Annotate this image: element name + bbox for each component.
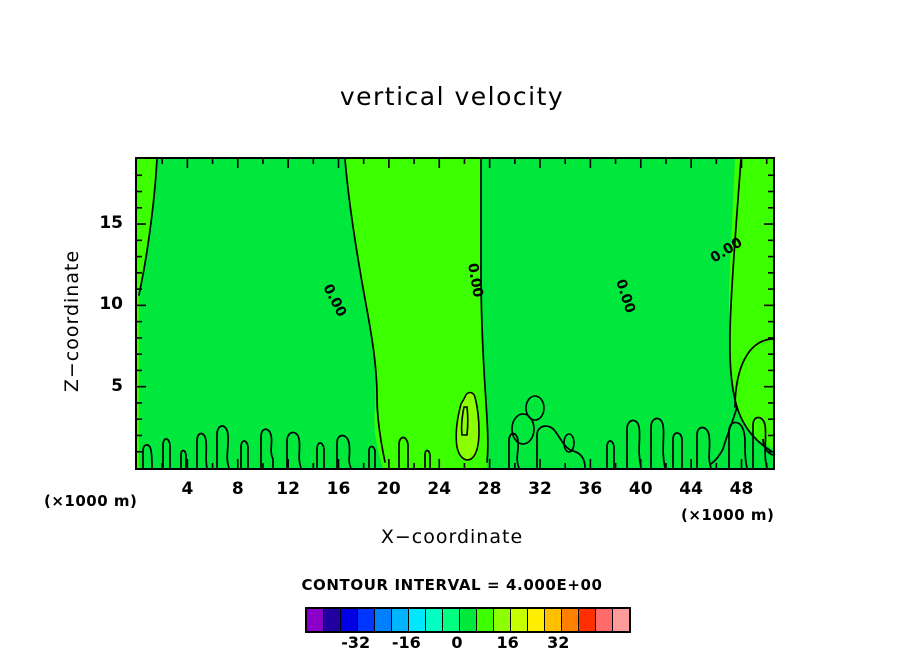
x-tick-label: 8 (218, 479, 258, 499)
colorbar-swatch (528, 609, 545, 631)
colorbar-swatch (596, 609, 613, 631)
x-tick-label: 44 (671, 479, 711, 499)
colorbar[interactable] (305, 607, 631, 633)
x-axis-unit-right: (×1000 m) (681, 506, 774, 524)
colorbar-swatch (545, 609, 562, 631)
colorbar-swatch (392, 609, 409, 631)
colorbar-tick-label: 32 (536, 633, 580, 652)
axis-ticks (137, 159, 773, 468)
colorbar-tick-label: 16 (486, 633, 530, 652)
x-tick-label: 24 (419, 479, 459, 499)
x-tick-label: 4 (167, 479, 207, 499)
colorbar-swatch (341, 609, 358, 631)
colorbar-tick-label: -32 (334, 633, 378, 652)
y-axis-label: Z−coordinate (61, 211, 83, 431)
contour-plot-area[interactable]: 0.00 0.00 0.00 0.00 (135, 157, 775, 470)
colorbar-swatch (579, 609, 596, 631)
colorbar-swatch (409, 609, 426, 631)
colorbar-swatch (358, 609, 375, 631)
x-tick-label: 40 (621, 479, 661, 499)
x-tick-label: 36 (570, 479, 610, 499)
colorbar-swatch (613, 609, 629, 631)
x-axis-label: X−coordinate (0, 526, 904, 548)
x-tick-label: 32 (520, 479, 560, 499)
colorbar-tick-label: 0 (435, 633, 479, 652)
colorbar-swatch (494, 609, 511, 631)
y-tick-label: 10 (83, 294, 123, 314)
y-tick-label: 15 (83, 213, 123, 233)
colorbar-swatch (460, 609, 477, 631)
contour-interval-text: CONTOUR INTERVAL = 4.000E+00 (0, 576, 904, 594)
x-tick-label: 16 (319, 479, 359, 499)
y-tick-label: 5 (83, 376, 123, 396)
x-tick-label: 48 (722, 479, 762, 499)
colorbar-swatch (477, 609, 494, 631)
colorbar-swatch (375, 609, 392, 631)
colorbar-swatch (562, 609, 579, 631)
x-tick-label: 28 (470, 479, 510, 499)
x-axis-unit-left: (×1000 m) (44, 492, 137, 510)
colorbar-swatch (443, 609, 460, 631)
colorbar-tick-label: -16 (384, 633, 428, 652)
x-tick-label: 20 (369, 479, 409, 499)
colorbar-swatch (324, 609, 341, 631)
colorbar-swatch (307, 609, 324, 631)
x-tick-label: 12 (268, 479, 308, 499)
colorbar-swatch (511, 609, 528, 631)
page-title: vertical velocity (0, 82, 904, 111)
colorbar-swatch (426, 609, 443, 631)
